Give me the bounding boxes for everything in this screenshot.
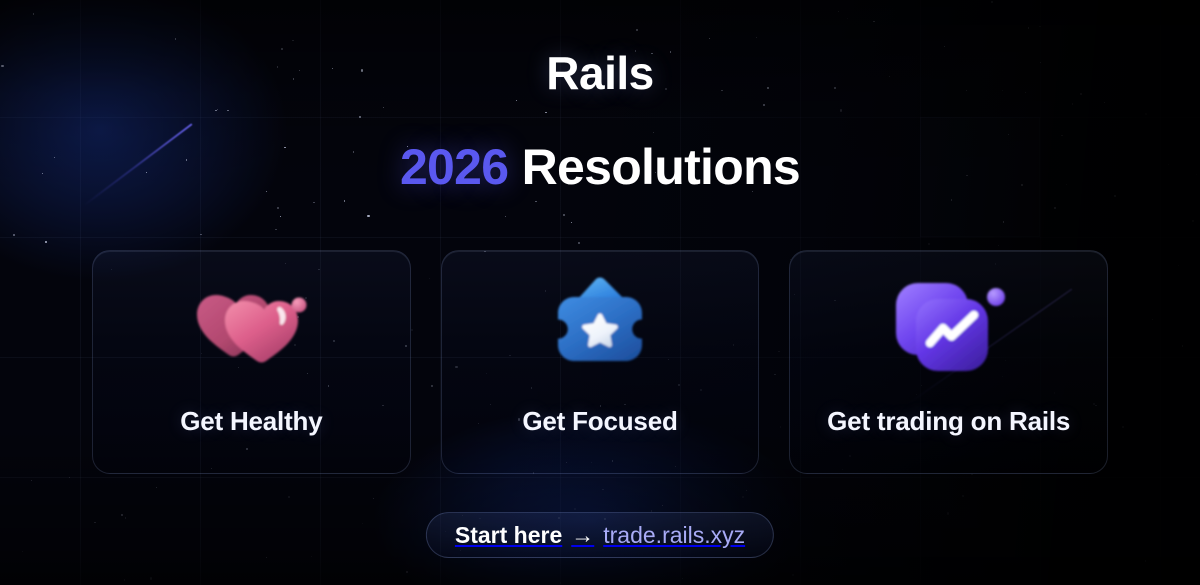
resolution-card-list: Get Healthy <box>92 250 1108 474</box>
resolution-card-trading[interactable]: Get trading on Rails <box>789 250 1108 474</box>
chart-trend-icon <box>790 277 1107 373</box>
headline-text: Resolutions <box>522 139 800 195</box>
promo-banner: Rails 2026 Resolutions <box>0 0 1200 585</box>
cta-lead-label: Start here <box>455 522 562 549</box>
resolution-card-label: Get trading on Rails <box>790 406 1107 437</box>
hearts-icon <box>93 277 410 373</box>
cta-url-label: trade.rails.xyz <box>603 522 745 549</box>
resolution-card-label: Get Healthy <box>93 406 410 437</box>
headline-word <box>508 139 521 195</box>
ticket-star-icon <box>442 277 759 373</box>
arrow-right-icon: → <box>562 522 603 549</box>
headline-year: 2026 <box>400 139 508 195</box>
brand-logo: Rails <box>0 46 1200 100</box>
resolution-card-focused[interactable]: Get Focused <box>441 250 760 474</box>
start-here-cta-button[interactable]: Start here → trade.rails.xyz <box>426 512 774 558</box>
page-title: 2026 Resolutions <box>0 138 1200 196</box>
resolution-card-healthy[interactable]: Get Healthy <box>92 250 411 474</box>
resolution-card-label: Get Focused <box>442 406 759 437</box>
